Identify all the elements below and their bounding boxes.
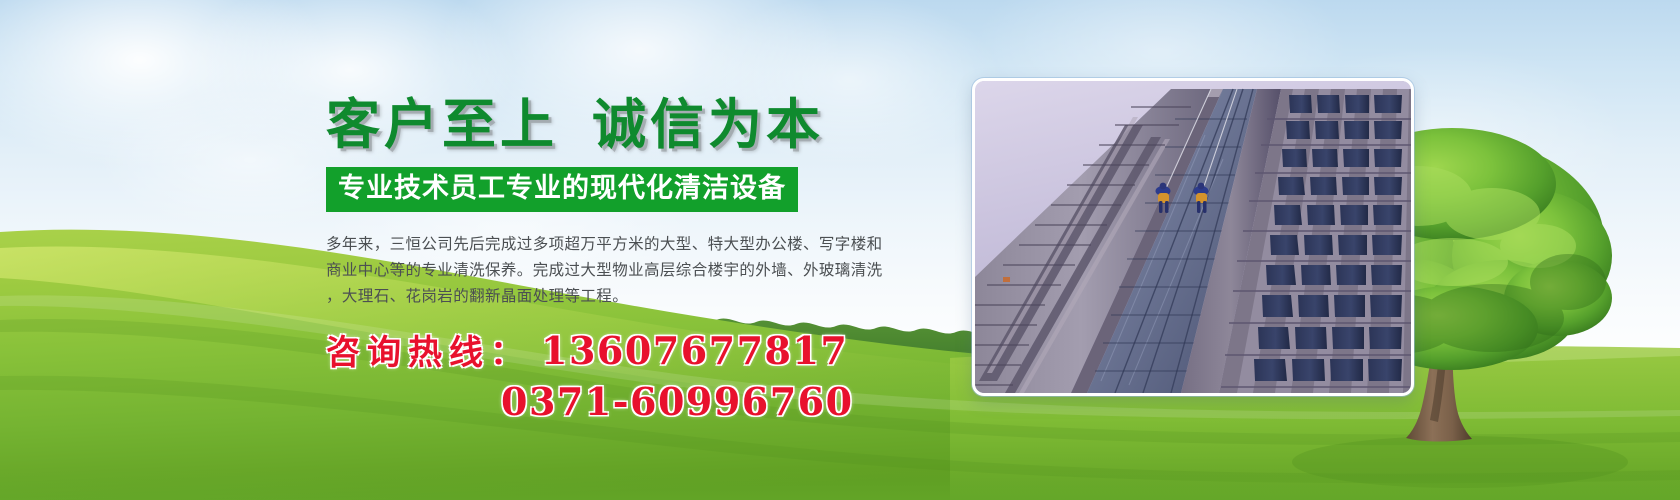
hotline-block: 咨询热线：13607677817 0371-60996760 (326, 332, 906, 422)
subtitle-bar: 专业技术员工专业的现代化清洁设备 (326, 167, 798, 212)
description-line-3: ，大理石、花岗岩的翻新晶面处理等工程。 (326, 284, 892, 310)
hotline-landline-number[interactable]: 0371-60996760 (501, 383, 906, 422)
hotline-label: 咨询热线： (326, 333, 531, 373)
description-line-2: 商业中心等的专业清洗保养。完成过大型物业高层综合楼宇的外墙、外玻璃清洗 (326, 258, 892, 284)
banner-copy: 客户至上诚信为本 专业技术员工专业的现代化清洁设备 多年来，三恒公司先后完成过多… (326, 96, 906, 422)
headline-part-1: 客户至上 (326, 92, 558, 156)
promo-banner: 客户至上诚信为本 专业技术员工专业的现代化清洁设备 多年来，三恒公司先后完成过多… (0, 0, 1680, 500)
page-title: 客户至上诚信为本 (326, 96, 906, 153)
description-line-1: 多年来，三恒公司先后完成过多项超万平方米的大型、特大型办公楼、写字楼和 (326, 232, 892, 258)
headline-part-2: 诚信为本 (592, 92, 824, 156)
hotline-mobile-number[interactable]: 13607677817 (541, 328, 848, 373)
description-block: 多年来，三恒公司先后完成过多项超万平方米的大型、特大型办公楼、写字楼和 商业中心… (326, 232, 892, 310)
hotline-primary-row: 咨询热线：13607677817 (326, 332, 906, 371)
building-photo (975, 81, 1411, 393)
building-photo-card (972, 78, 1414, 396)
